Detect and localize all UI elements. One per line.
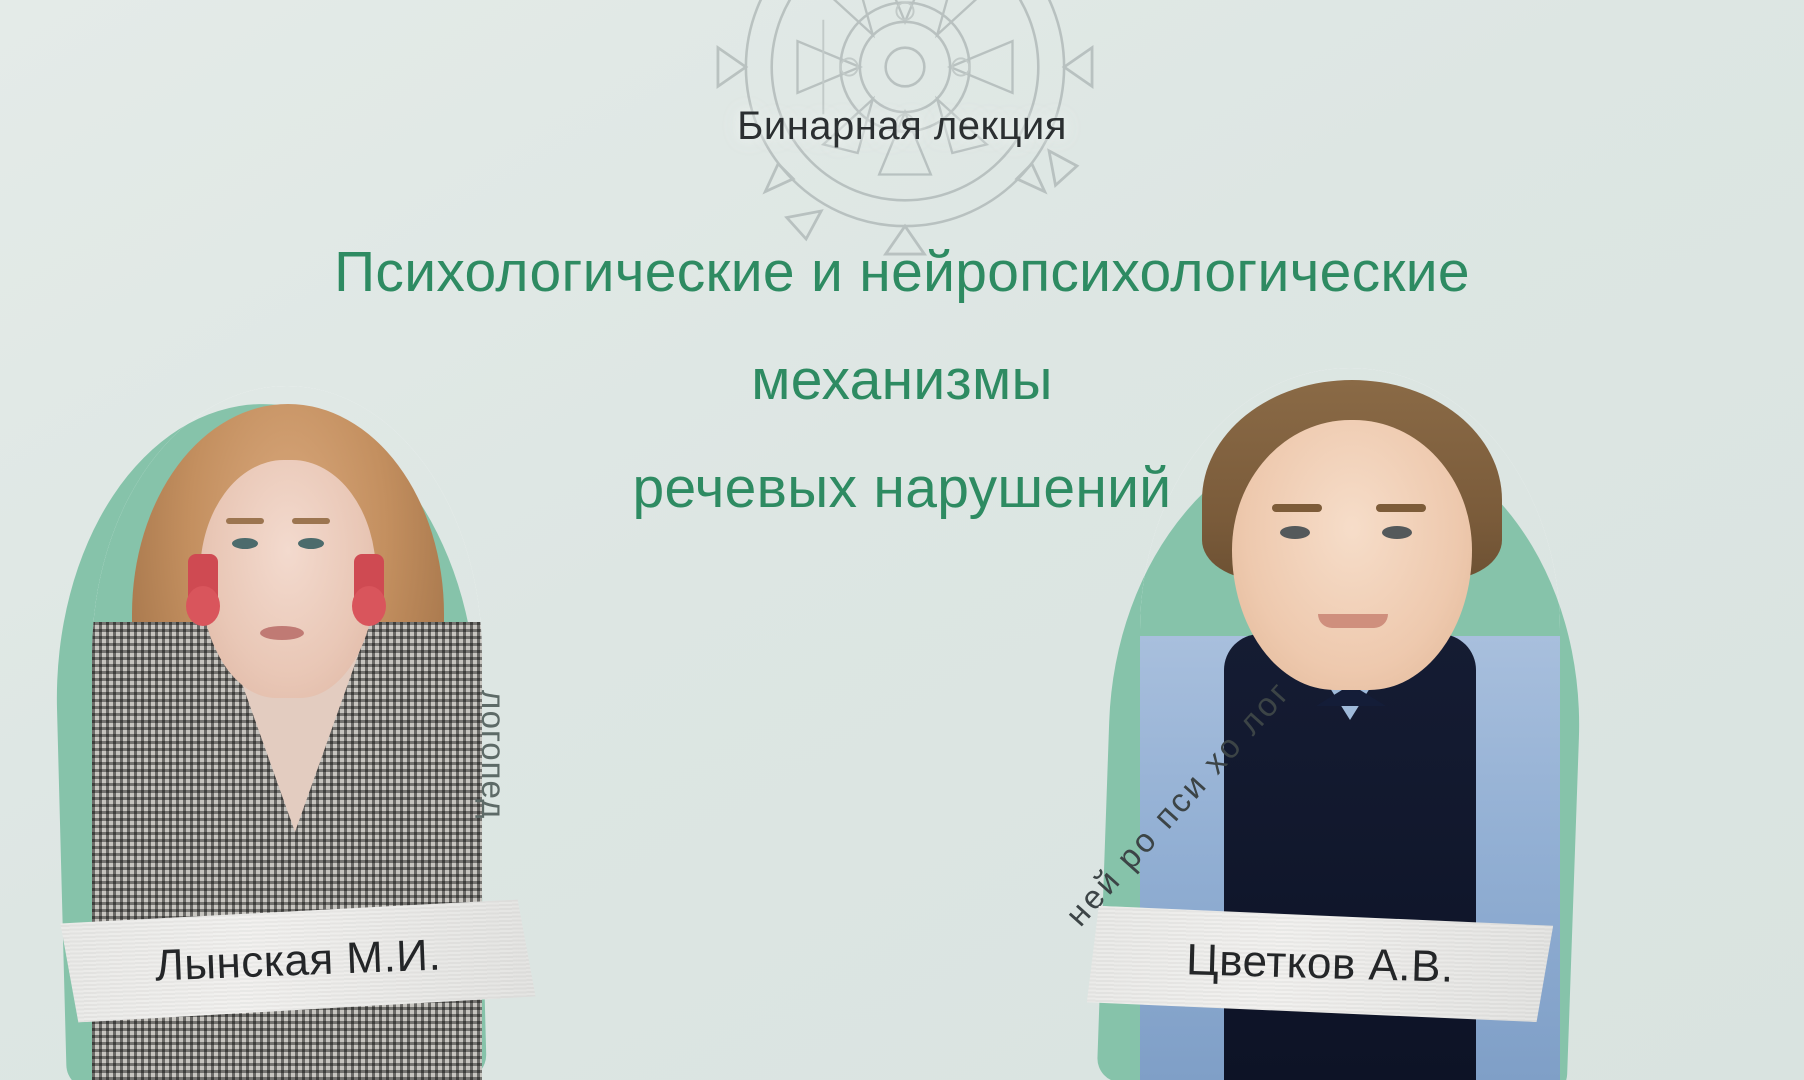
title-line-1: Психологические и нейропсихологические — [140, 218, 1664, 326]
title-line-3: речевых нарушений — [140, 434, 1664, 542]
lecture-type-label: Бинарная лекция — [0, 104, 1804, 149]
speaker-name-right: Цветков А.В. — [1087, 906, 1554, 1023]
page-title: Психологические и нейропсихологические м… — [140, 218, 1664, 542]
title-line-2: механизмы — [140, 326, 1664, 434]
speaker-role-left: логопед — [474, 690, 512, 819]
presentation-slide: Бинарная лекция Психологические и нейроп… — [0, 0, 1804, 1080]
